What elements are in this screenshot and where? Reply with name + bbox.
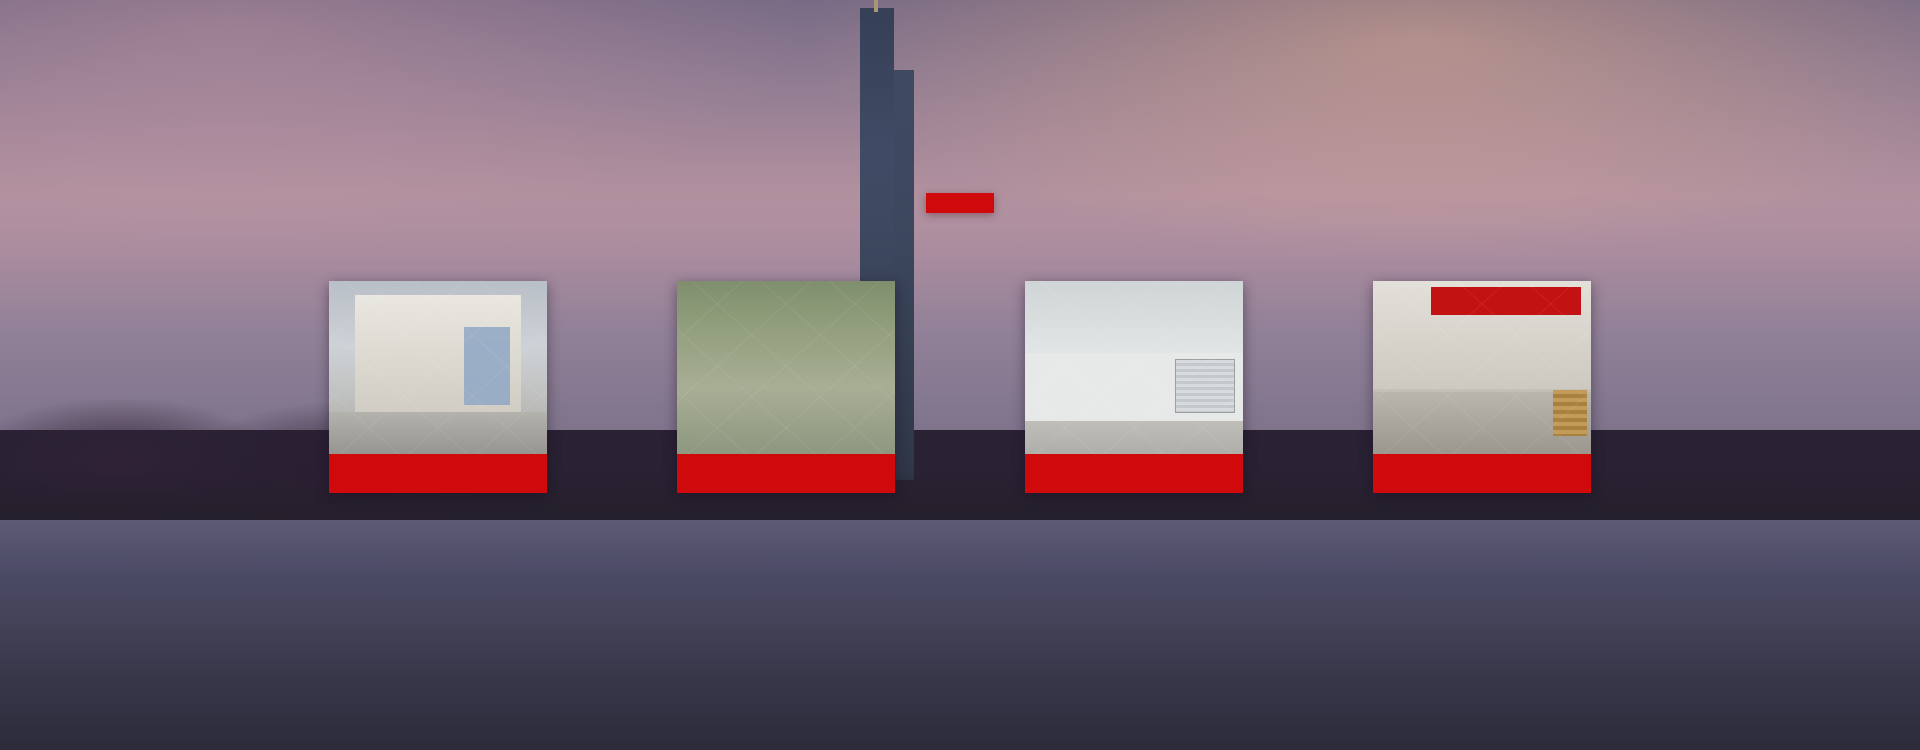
company-building-staff-photo (329, 281, 547, 454)
hero-banner (0, 0, 1920, 750)
feature-card[interactable] (1025, 281, 1243, 493)
feature-card-caption (329, 454, 547, 493)
feature-card[interactable] (1373, 281, 1591, 493)
feature-card[interactable] (329, 281, 547, 493)
office-interior-team-photo (1025, 281, 1243, 454)
workshop-banner (1431, 287, 1581, 315)
banner-subtitle-bar (926, 193, 994, 213)
feature-card-list (329, 281, 1591, 493)
feature-card-caption (1373, 454, 1591, 493)
workshop-workers-photo (1373, 281, 1591, 454)
feature-card-caption (1025, 454, 1243, 493)
feature-card[interactable] (677, 281, 895, 493)
aerial-factory-plant-photo (677, 281, 895, 454)
feature-card-caption (677, 454, 895, 493)
